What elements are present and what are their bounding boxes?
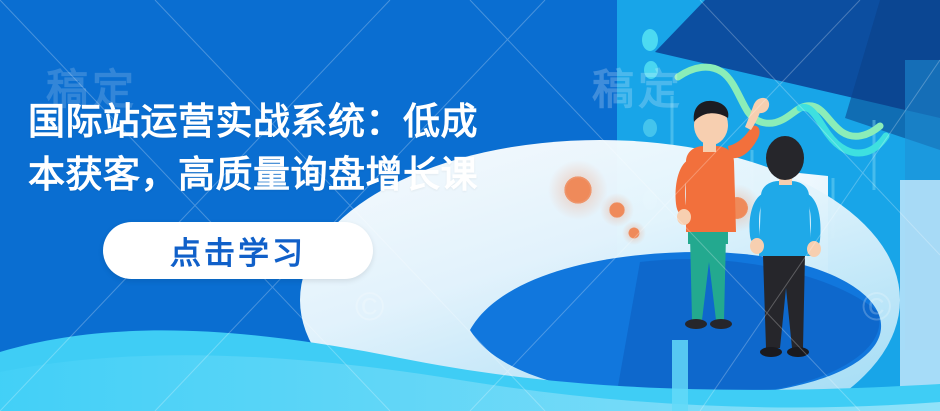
cta-button-label: 点击学习 bbox=[170, 228, 306, 273]
accent-bar bbox=[672, 340, 688, 411]
banner-illustration bbox=[0, 0, 940, 411]
panel-pale-edge bbox=[900, 180, 940, 411]
headline-block: 国际站运营实战系统：低成 本获客，高质量询盘增长课 bbox=[28, 96, 628, 201]
banner-headline: 国际站运营实战系统：低成 本获客，高质量询盘增长课 bbox=[28, 96, 628, 201]
click-to-learn-button[interactable]: 点击学习 bbox=[103, 222, 373, 279]
course-banner: 稿定 稿定 © © 国际站运营实战系统：低成 本获客，高质量询盘增长课 点击学习 bbox=[0, 0, 940, 411]
